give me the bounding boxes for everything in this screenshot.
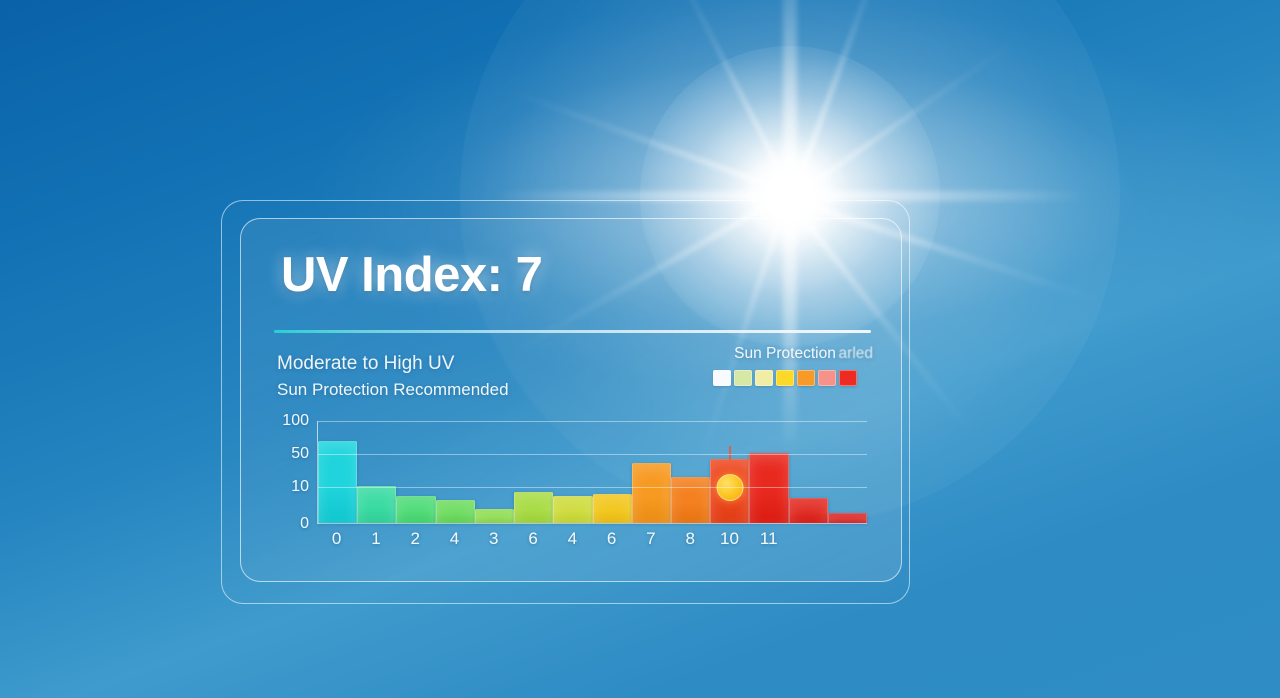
legend-title-text: Sun Protection: [734, 345, 836, 362]
uv-forecast-chart: 01050100 01243646781011: [277, 421, 867, 556]
chart-bar-slot: [671, 421, 710, 523]
legend-swatch-1: [734, 370, 752, 386]
chart-bar[interactable]: [828, 513, 867, 523]
sun-ray-6: [658, 0, 794, 196]
legend-swatch-6: [839, 370, 857, 386]
legend-swatch-2: [755, 370, 773, 386]
x-axis-tick: [788, 529, 827, 549]
y-axis-tick: 50: [291, 445, 309, 463]
chart-bar[interactable]: [593, 494, 632, 523]
chart-bar-slot: [318, 421, 357, 523]
sun-ray-7: [790, 0, 902, 198]
y-axis-tick: 0: [300, 515, 309, 533]
chart-bar-slot: [749, 421, 788, 523]
chart-gridline: [318, 421, 867, 422]
chart-gridline: [318, 454, 867, 455]
x-axis-tick: 8: [671, 529, 710, 549]
chart-bar[interactable]: [671, 477, 710, 523]
chart-bar[interactable]: [553, 496, 592, 523]
x-axis-tick: 4: [553, 529, 592, 549]
x-axis-tick: 6: [592, 529, 631, 549]
chart-bar-slot: [436, 421, 475, 523]
x-axis-tick: 7: [631, 529, 670, 549]
x-axis-tick: 10: [710, 529, 749, 549]
chart-bar[interactable]: [710, 459, 749, 523]
uv-index-scene: UV Index: 7 Moderate to High UV Sun Prot…: [0, 0, 1280, 698]
chart-bar[interactable]: [749, 453, 788, 523]
uv-status-secondary: Sun Protection Recommended: [277, 378, 509, 402]
title-divider: [274, 330, 871, 333]
chart-bar[interactable]: [789, 498, 828, 523]
page-title: UV Index: 7: [281, 247, 542, 303]
chart-bar[interactable]: [475, 509, 514, 523]
legend-title-artifact: arled: [839, 345, 873, 363]
y-axis-tick: 10: [291, 478, 309, 496]
x-axis-tick: 6: [513, 529, 552, 549]
chart-bar-slot: [593, 421, 632, 523]
uv-scale-legend: Sun Protectionarled: [697, 345, 873, 386]
chart-bar-slot: [710, 421, 749, 523]
chart-bar[interactable]: [396, 496, 435, 523]
chart-bar-slot: [514, 421, 553, 523]
legend-swatch-5: [818, 370, 836, 386]
chart-bar-slot: [789, 421, 828, 523]
chart-bar[interactable]: [318, 441, 357, 523]
chart-bar-slot: [632, 421, 671, 523]
chart-gridline: [318, 487, 867, 488]
chart-bar[interactable]: [357, 486, 396, 523]
chart-bar[interactable]: [436, 500, 475, 523]
legend-swatch-0: [713, 370, 731, 386]
chart-bar-slot: [396, 421, 435, 523]
chart-bar[interactable]: [632, 463, 671, 523]
x-axis-tick: [828, 529, 867, 549]
y-axis-tick: 100: [282, 412, 309, 430]
uv-status-primary: Moderate to High UV: [277, 351, 509, 378]
x-axis-tick: 11: [749, 529, 788, 549]
chart-x-axis: 01243646781011: [317, 529, 867, 549]
legend-swatch-row: [697, 370, 873, 386]
legend-swatch-3: [776, 370, 794, 386]
x-axis-tick: 3: [474, 529, 513, 549]
chart-bar-slot: [357, 421, 396, 523]
x-axis-tick: 0: [317, 529, 356, 549]
chart-plot-area: [317, 421, 867, 524]
sun-ray-8: [790, 41, 1014, 200]
sun-ray-5: [508, 88, 792, 196]
chart-bars: [318, 421, 867, 523]
legend-title: Sun Protectionarled: [697, 345, 873, 365]
chart-bar-slot: [828, 421, 867, 523]
x-axis-tick: 1: [356, 529, 395, 549]
uv-status-block: Moderate to High UV Sun Protection Recom…: [277, 351, 509, 402]
chart-bar-slot: [553, 421, 592, 523]
x-axis-tick: 4: [435, 529, 474, 549]
x-axis-tick: 2: [396, 529, 435, 549]
uv-index-card: UV Index: 7 Moderate to High UV Sun Prot…: [240, 218, 902, 582]
chart-bar-slot: [475, 421, 514, 523]
chart-bar[interactable]: [514, 492, 553, 523]
legend-swatch-4: [797, 370, 815, 386]
chart-y-axis: 01050100: [277, 421, 313, 524]
